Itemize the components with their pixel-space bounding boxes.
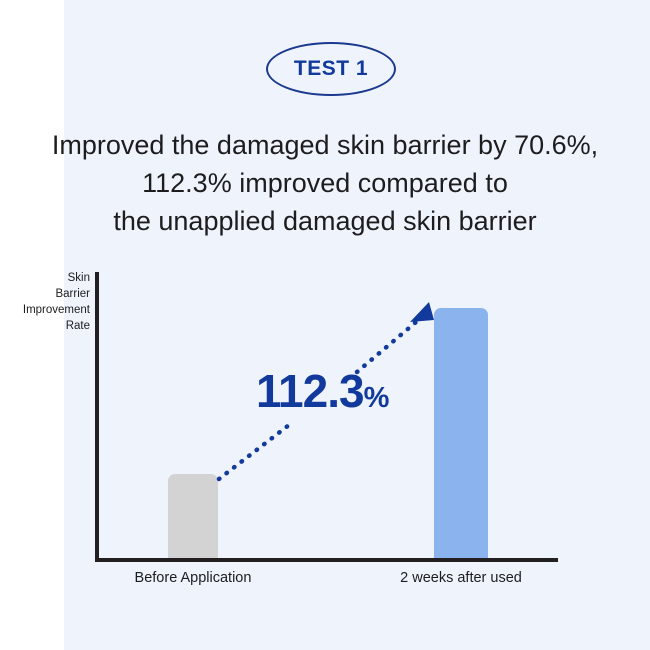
y-axis-line bbox=[95, 272, 99, 562]
improvement-callout: 112.3% bbox=[256, 368, 389, 414]
bar-before-application bbox=[168, 474, 218, 558]
y-axis-label-word-2: Barrier bbox=[0, 286, 90, 302]
y-axis-label-word-4: Rate bbox=[0, 318, 90, 334]
y-axis-label-word-1: Skin bbox=[0, 270, 90, 286]
y-axis-label-word-3: Improvement bbox=[0, 302, 90, 318]
x-tick-label-after: 2 weeks after used bbox=[371, 570, 551, 586]
y-axis-label: Skin Barrier Improvement Rate bbox=[0, 270, 90, 334]
improvement-callout-value: 112.3 bbox=[256, 365, 364, 417]
bar-after-two-weeks bbox=[434, 308, 488, 558]
improvement-callout-unit: % bbox=[364, 382, 390, 414]
infographic-canvas: TEST 1 Improved the damaged skin barrier… bbox=[0, 0, 650, 650]
x-axis-line bbox=[95, 558, 558, 562]
x-tick-label-before: Before Application bbox=[103, 570, 283, 586]
bar-chart: Skin Barrier Improvement Rate Before App… bbox=[0, 0, 650, 650]
